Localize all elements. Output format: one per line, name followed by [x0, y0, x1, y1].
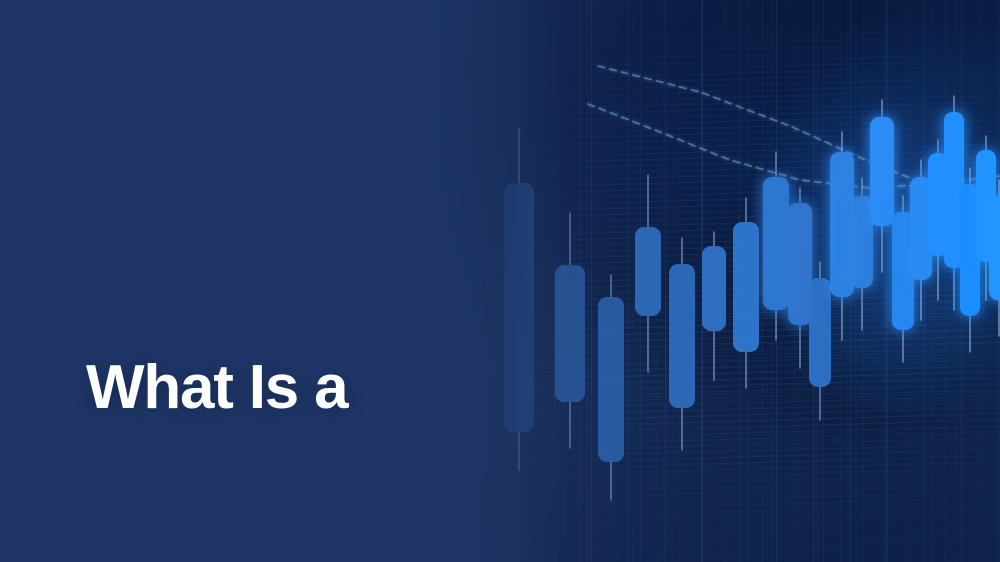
candlestick — [989, 180, 1000, 336]
candle-layer — [504, 96, 1000, 500]
candlestick — [733, 198, 759, 388]
candle-body — [598, 297, 624, 462]
candlestick — [598, 275, 624, 500]
candlestick — [669, 238, 695, 450]
candlestick — [830, 132, 854, 340]
candle-body — [788, 203, 812, 325]
candle-body — [733, 222, 759, 352]
candlestick — [870, 100, 894, 272]
candle-body — [830, 152, 854, 297]
candlestick — [851, 178, 873, 330]
candle-body — [669, 264, 695, 408]
candlestick — [702, 232, 726, 380]
candle-body — [555, 265, 585, 402]
page-title-line-1: What Is a — [86, 352, 358, 423]
candle-body — [851, 196, 873, 288]
banner-root: What Is a Perpetual DEX ? — [0, 0, 1000, 562]
page-title: What Is a Perpetual DEX ? — [86, 210, 358, 562]
candle-body — [989, 196, 1000, 300]
candle-body — [635, 227, 661, 316]
candlestick — [788, 188, 812, 368]
candle-body — [763, 177, 789, 310]
candlestick — [635, 175, 661, 372]
candlestick — [809, 262, 831, 420]
candle-body — [504, 183, 534, 432]
candlestick — [555, 213, 585, 448]
candle-body — [809, 278, 831, 387]
candlestick — [763, 152, 789, 340]
candlestick — [504, 128, 534, 470]
candle-body — [702, 246, 726, 331]
candle-body — [870, 117, 894, 226]
